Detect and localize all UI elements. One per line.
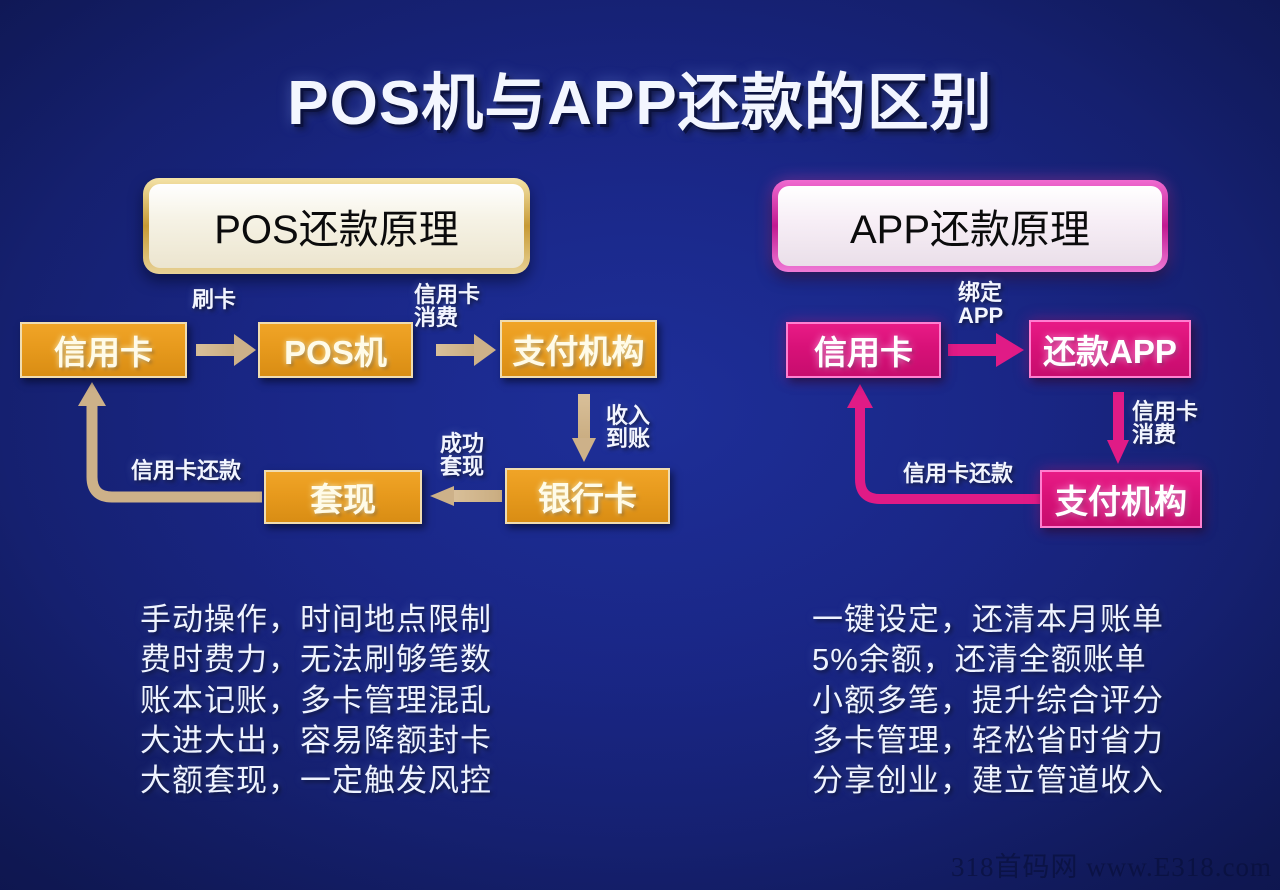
- left-panel-bullet-list: 手动操作，时间地点限制 费时费力，无法刷够笔数 账本记账，多卡管理混乱 大进大出…: [140, 600, 492, 801]
- bullet-line: 大额套现，一定触发风控: [140, 761, 492, 801]
- page-title: POS机与APP还款的区别: [0, 52, 1280, 142]
- right-panel-bullet-list: 一键设定，还清本月账单 5%余额，还清全额账单 小额多笔，提升综合评分 多卡管理…: [812, 600, 1164, 801]
- arrow-bind-app: [948, 333, 1024, 367]
- edge-label-bind-app: 绑定 APP: [958, 281, 1003, 327]
- bullet-line: 大进大出，容易降额封卡: [140, 721, 492, 761]
- bullet-line: 账本记账，多卡管理混乱: [140, 681, 492, 721]
- node-payment-org-left: 支付机构: [500, 320, 657, 378]
- node-repay-app: 还款APP: [1029, 320, 1191, 378]
- node-payment-org-right: 支付机构: [1040, 470, 1202, 528]
- edge-label-credit-repay-right: 信用卡还款: [903, 462, 1013, 485]
- edge-label-credit-repay-left: 信用卡还款: [131, 459, 241, 482]
- left-panel-header: POS还款原理: [143, 178, 530, 274]
- arrow-credit-consume-right: [1107, 392, 1129, 464]
- arrow-credit-consume-left: [436, 334, 496, 366]
- right-panel-header-label: APP还款原理: [778, 186, 1162, 266]
- bullet-line: 小额多笔，提升综合评分: [812, 681, 1164, 721]
- node-credit-card-left: 信用卡: [20, 322, 187, 378]
- bullet-line: 多卡管理，轻松省时省力: [812, 721, 1164, 761]
- arrow-swipe: [196, 334, 256, 366]
- edge-label-income-received: 收入 到账: [606, 404, 650, 450]
- right-panel-header: APP还款原理: [772, 180, 1168, 272]
- node-bank-card: 银行卡: [505, 468, 670, 524]
- edge-label-credit-consume-right: 信用卡 消费: [1132, 400, 1198, 446]
- node-pos-machine: POS机: [258, 322, 413, 378]
- site-watermark: 318首码网 www.E318.com: [951, 845, 1272, 884]
- arrow-income-received: [572, 394, 596, 462]
- edge-label-swipe: 刷卡: [192, 288, 236, 311]
- edge-label-success-cashout: 成功 套现: [440, 432, 484, 478]
- arrow-success-cashout: [430, 486, 502, 506]
- bullet-line: 分享创业，建立管道收入: [812, 761, 1164, 801]
- bullet-line: 手动操作，时间地点限制: [140, 600, 492, 640]
- bullet-line: 费时费力，无法刷够笔数: [140, 640, 492, 680]
- node-cash-out: 套现: [264, 470, 422, 524]
- edge-label-credit-consume-left: 信用卡 消费: [414, 283, 480, 329]
- bullet-line: 5%余额，还清全额账单: [812, 640, 1164, 680]
- infographic-poster: POS机与APP还款的区别 POS还款原理 APP还款原理: [0, 0, 1280, 890]
- bullet-line: 一键设定，还清本月账单: [812, 600, 1164, 640]
- node-credit-card-right: 信用卡: [786, 322, 941, 378]
- left-panel-header-label: POS还款原理: [149, 184, 524, 268]
